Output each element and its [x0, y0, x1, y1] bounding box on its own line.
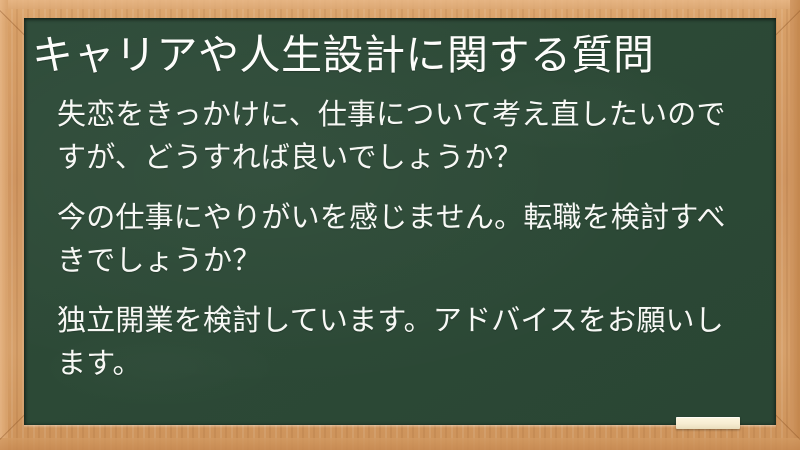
chalkboard-surface: キャリアや人生設計に関する質問 失恋をきっかけに、仕事について考え直したいのです… [24, 18, 776, 425]
frame-right-shadow [790, 0, 800, 450]
page-title: キャリアや人生設計に関する質問 [32, 28, 752, 82]
frame-left-highlight [0, 0, 8, 450]
question-list: 失恋をきっかけに、仕事について考え直したいのですが、どうすれば良いでしょうか？ … [57, 94, 729, 386]
chalkboard-slide: キャリアや人生設計に関する質問 失恋をきっかけに、仕事について考え直したいのです… [0, 0, 800, 450]
list-item: 今の仕事にやりがいを感じません。転職を検討すべきでしょうか？ [57, 197, 729, 283]
chalk-stick-icon [676, 417, 740, 429]
list-item: 独立開業を検討しています。アドバイスをお願いします。 [57, 300, 729, 386]
frame-bottom-shadow [0, 438, 800, 450]
list-item: 失恋をきっかけに、仕事について考え直したいのですが、どうすれば良いでしょうか？ [57, 94, 729, 180]
chalkboard-content: キャリアや人生設計に関する質問 失恋をきっかけに、仕事について考え直したいのです… [24, 18, 776, 425]
frame-top-highlight [0, 0, 800, 9]
